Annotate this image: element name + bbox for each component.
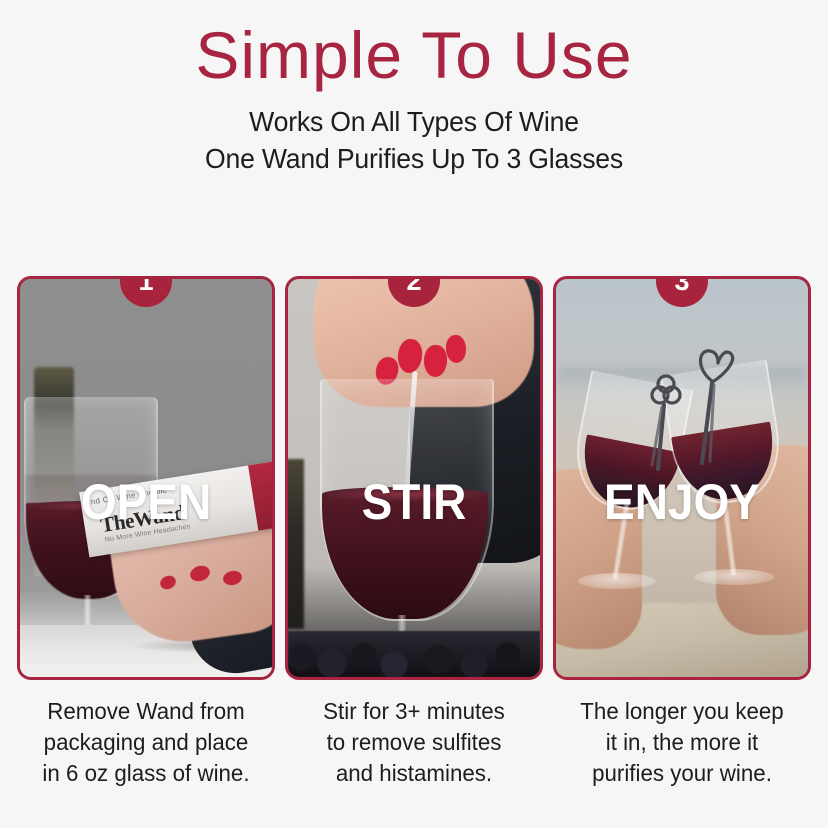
subtitle-line-1: Works On All Types Of Wine bbox=[249, 106, 579, 137]
page-title: Simple To Use bbox=[0, 22, 828, 88]
heart-wand-icon bbox=[684, 337, 736, 467]
promo-page: Simple To Use Works On All Types Of Wine… bbox=[0, 0, 828, 828]
caption-line: it in, the more it bbox=[606, 729, 759, 755]
caption-stir: Stir for 3+ minutes to remove sulfites a… bbox=[289, 696, 539, 789]
caption-line: Remove Wand from bbox=[47, 698, 245, 724]
clover-wand-icon bbox=[638, 361, 684, 471]
step-card-stir[interactable]: STIR 2 bbox=[285, 276, 543, 680]
wine-glass-foot-left bbox=[578, 573, 656, 589]
caption-line: packaging and place bbox=[44, 729, 249, 755]
subtitle: Works On All Types Of Wine One Wand Puri… bbox=[21, 104, 808, 178]
caption-line: in 6 oz glass of wine. bbox=[42, 760, 249, 786]
caption-line: to remove sulfites bbox=[327, 729, 502, 755]
steps-row: nd Off Wine Chemic TheWand No More Wine … bbox=[17, 276, 811, 680]
step-card-open[interactable]: nd Off Wine Chemic TheWand No More Wine … bbox=[17, 276, 275, 680]
caption-line: The longer you keep bbox=[580, 698, 783, 724]
captions-row: Remove Wand from packaging and place in … bbox=[17, 696, 811, 789]
wine-glass-foot-right bbox=[694, 569, 774, 585]
overlay-label-enjoy: ENJOY bbox=[566, 477, 798, 527]
header: Simple To Use Works On All Types Of Wine… bbox=[0, 0, 828, 178]
caption-line: and histamines. bbox=[336, 760, 492, 786]
blueberries bbox=[288, 631, 540, 677]
caption-open: Remove Wand from packaging and place in … bbox=[21, 696, 271, 789]
step-card-enjoy[interactable]: ENJOY 3 bbox=[553, 276, 811, 680]
subtitle-line-2: One Wand Purifies Up To 3 Glasses bbox=[205, 143, 623, 174]
caption-enjoy: The longer you keep it in, the more it p… bbox=[557, 696, 807, 789]
overlay-label-open: OPEN bbox=[30, 477, 262, 527]
caption-line: Stir for 3+ minutes bbox=[323, 698, 505, 724]
overlay-label-stir: STIR bbox=[298, 477, 530, 527]
caption-line: purifies your wine. bbox=[592, 760, 772, 786]
